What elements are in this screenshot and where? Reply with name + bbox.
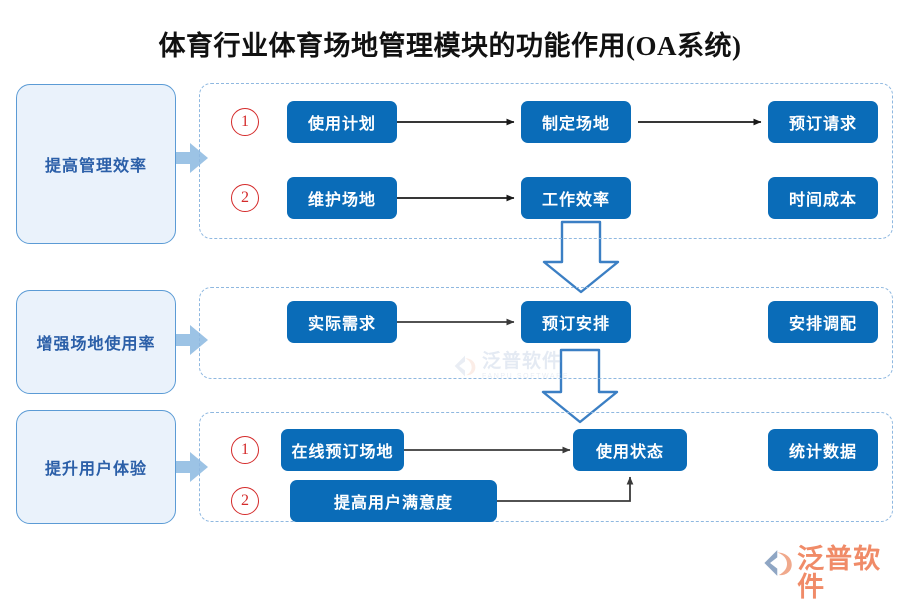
goal-card-2[interactable]: 增强场地使用率 — [16, 290, 176, 394]
node-shijixuqiu[interactable]: 实际需求 — [287, 301, 397, 343]
node-label: 提高用户满意度 — [334, 489, 453, 513]
brand-logo: 泛普软件 www.fanpusoft.com — [762, 545, 900, 600]
node-label: 预订安排 — [542, 310, 610, 334]
node-label: 统计数据 — [789, 438, 857, 462]
node-label: 使用计划 — [308, 110, 376, 134]
brand-logo-icon — [762, 546, 794, 580]
node-yudinganpai[interactable]: 预订安排 — [521, 301, 631, 343]
node-shiyongzhuangtai[interactable]: 使用状态 — [573, 429, 687, 471]
goal-card-3[interactable]: 提升用户体验 — [16, 410, 176, 524]
node-tigaoyonghumanyidu[interactable]: 提高用户满意度 — [290, 480, 497, 522]
marker-s3-row1: 1 — [231, 436, 259, 464]
node-label: 使用状态 — [596, 438, 664, 462]
node-label: 制定场地 — [542, 110, 610, 134]
node-weihuchangdi[interactable]: 维护场地 — [287, 177, 397, 219]
node-label: 维护场地 — [308, 186, 376, 210]
diagram-canvas: 体育行业体育场地管理模块的功能作用(OA系统) — [0, 0, 900, 600]
node-label: 预订请求 — [789, 110, 857, 134]
node-yudingqingqiu[interactable]: 预订请求 — [768, 101, 878, 143]
node-shijianchengben[interactable]: 时间成本 — [768, 177, 878, 219]
node-zhidingchangdi[interactable]: 制定场地 — [521, 101, 631, 143]
node-gongzuoxiaolv[interactable]: 工作效率 — [521, 177, 631, 219]
node-tongjishuju[interactable]: 统计数据 — [768, 429, 878, 471]
node-zaixianyudingchangdi[interactable]: 在线预订场地 — [281, 429, 404, 471]
marker-s1-row2: 2 — [231, 184, 259, 212]
node-label: 时间成本 — [789, 186, 857, 210]
page-title: 体育行业体育场地管理模块的功能作用(OA系统) — [0, 24, 900, 63]
goal-card-1-label: 提高管理效率 — [45, 152, 147, 176]
goal-card-2-label: 增强场地使用率 — [36, 330, 155, 354]
node-label: 工作效率 — [542, 186, 610, 210]
goal-card-3-label: 提升用户体验 — [45, 455, 147, 479]
brand-name-cn: 泛普软件 — [797, 545, 900, 600]
node-shiyongjihua[interactable]: 使用计划 — [287, 101, 397, 143]
node-label: 实际需求 — [308, 310, 376, 334]
marker-s1-row1: 1 — [231, 108, 259, 136]
node-label: 在线预订场地 — [291, 438, 393, 462]
node-label: 安排调配 — [789, 310, 857, 334]
brand-logo-text: 泛普软件 www.fanpusoft.com — [797, 545, 900, 600]
marker-s3-row2: 2 — [231, 487, 259, 515]
goal-card-1[interactable]: 提高管理效率 — [16, 84, 176, 244]
node-anpaidiaopei[interactable]: 安排调配 — [768, 301, 878, 343]
